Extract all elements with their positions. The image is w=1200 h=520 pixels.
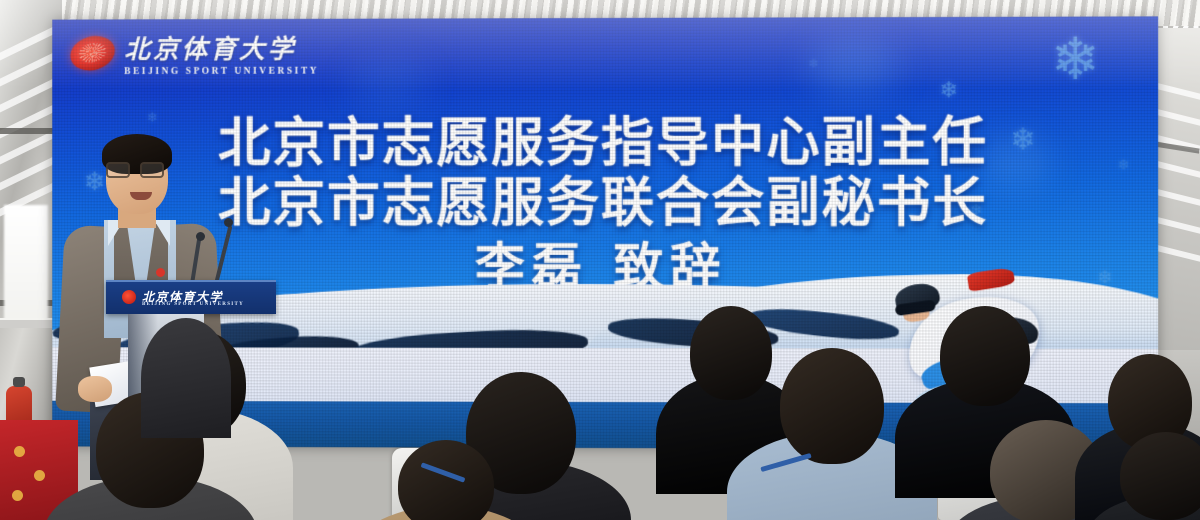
stage-photo-scene: ❄❄❄❄❄❄❄❄❄❄❄❄ 北京体育大学 BEIJING SPORT UNIVER…	[0, 0, 1200, 520]
podium-name-plate: 北京体育大学 BEIJING SPORT UNIVERSITY	[106, 280, 276, 314]
audience-head	[1120, 432, 1200, 520]
snowflake-icon: ❄	[809, 57, 819, 69]
audience-head	[690, 306, 772, 400]
left-rail	[0, 318, 60, 328]
snowflake-icon: ❄	[940, 79, 959, 101]
audience-shoulders	[141, 318, 231, 438]
podium-emblem-icon	[122, 290, 136, 304]
bokeh-glow	[809, 37, 900, 97]
speaker-collar	[154, 220, 170, 246]
bsu-logo-block: 北京体育大学 BEIJING SPORT UNIVERSITY	[70, 29, 319, 77]
microphone-head-icon	[224, 218, 233, 227]
bsu-logo-chinese-name: 北京体育大学	[124, 29, 319, 66]
audience-head	[780, 348, 884, 464]
bokeh-glow	[349, 58, 429, 108]
bsu-emblem-icon	[67, 31, 119, 75]
audience-head	[940, 306, 1030, 406]
speaker-lapel-pin	[156, 268, 165, 277]
podium-plate-english: BEIJING SPORT UNIVERSITY	[142, 302, 244, 307]
bsu-logo-english-name: BEIJING SPORT UNIVERSITY	[124, 67, 319, 77]
skier-red-accent	[967, 268, 1016, 292]
left-window-light	[4, 205, 48, 325]
snowflake-icon: ❄	[1051, 31, 1100, 89]
microphone-head-icon	[196, 232, 205, 241]
speaker-glasses-lens	[106, 162, 130, 178]
speaker-glasses-lens	[140, 162, 164, 178]
